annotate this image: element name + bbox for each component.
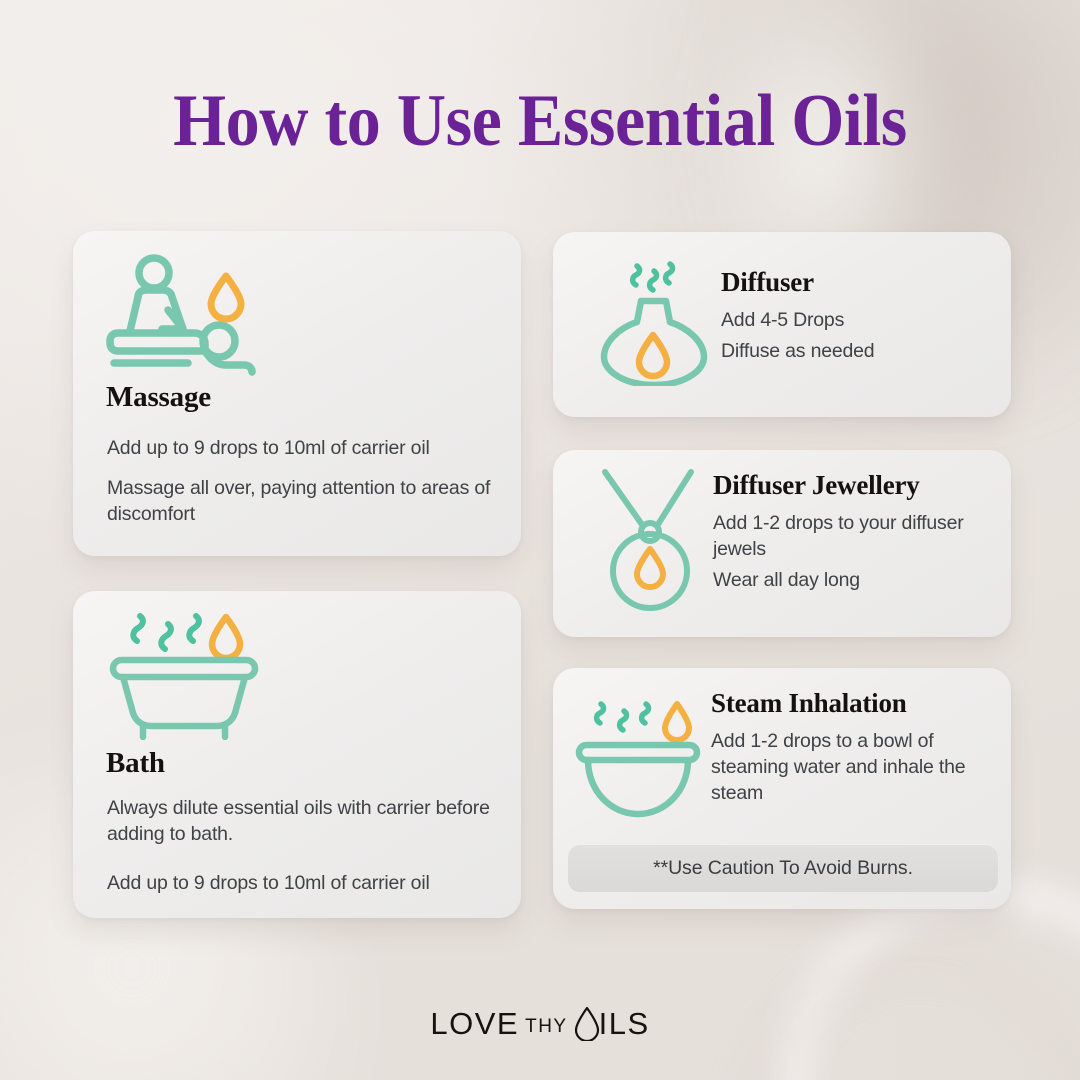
- card-text: Diffuser Jewellery Add 1-2 drops to your…: [713, 470, 997, 593]
- card-body-line: Add 1-2 drops to a bowl of steaming wate…: [711, 728, 997, 806]
- logo-word-love: LOVE: [430, 1006, 519, 1042]
- card-body-line: Always dilute essential oils with carrie…: [107, 796, 497, 848]
- card-body-line: Massage all over, paying attention to ar…: [107, 476, 497, 528]
- steaming-bowl-icon: [573, 696, 708, 826]
- massage-table-icon: [106, 253, 256, 383]
- card-diffuser[interactable]: Diffuser Add 4-5 Drops Diffuse as needed: [553, 232, 1011, 417]
- diffuser-icon: [596, 254, 711, 391]
- card-body-line: Diffuse as needed: [721, 338, 993, 364]
- card-title: Steam Inhalation: [711, 688, 997, 719]
- bathtub-icon: [106, 605, 266, 745]
- page-title: How to Use Essential Oils: [43, 84, 1037, 158]
- logo-word-oils: ILS: [599, 1006, 650, 1042]
- card-body-line: Add up to 9 drops to 10ml of carrier oil: [107, 871, 497, 897]
- card-title: Bath: [106, 747, 165, 780]
- card-body-line: Add 1-2 drops to your diffuser jewels: [713, 510, 997, 562]
- necklace-pendant-icon: [595, 466, 705, 621]
- card-title: Massage: [106, 381, 211, 414]
- brand-logo: LOVE THY ILS: [0, 1003, 1080, 1044]
- logo-word-thy: THY: [525, 1016, 568, 1038]
- card-body-line: Add up to 9 drops to 10ml of carrier oil: [107, 436, 497, 462]
- caution-banner: **Use Caution To Avoid Burns.: [568, 844, 998, 892]
- card-jewellery[interactable]: Diffuser Jewellery Add 1-2 drops to your…: [553, 450, 1011, 637]
- card-bath[interactable]: Bath Always dilute essential oils with c…: [73, 591, 521, 918]
- oil-drop-icon: [573, 1005, 601, 1046]
- card-steam[interactable]: Steam Inhalation Add 1-2 drops to a bowl…: [553, 668, 1011, 909]
- card-text: Diffuser Add 4-5 Drops Diffuse as needed: [721, 267, 993, 364]
- caution-text: **Use Caution To Avoid Burns.: [653, 857, 913, 880]
- card-body-line: Wear all day long: [713, 567, 997, 593]
- card-massage[interactable]: Massage Add up to 9 drops to 10ml of car…: [73, 231, 521, 556]
- card-body-line: Add 4-5 Drops: [721, 307, 993, 333]
- card-title: Diffuser: [721, 267, 993, 298]
- card-title: Diffuser Jewellery: [713, 470, 997, 501]
- card-text: Steam Inhalation Add 1-2 drops to a bowl…: [711, 688, 997, 806]
